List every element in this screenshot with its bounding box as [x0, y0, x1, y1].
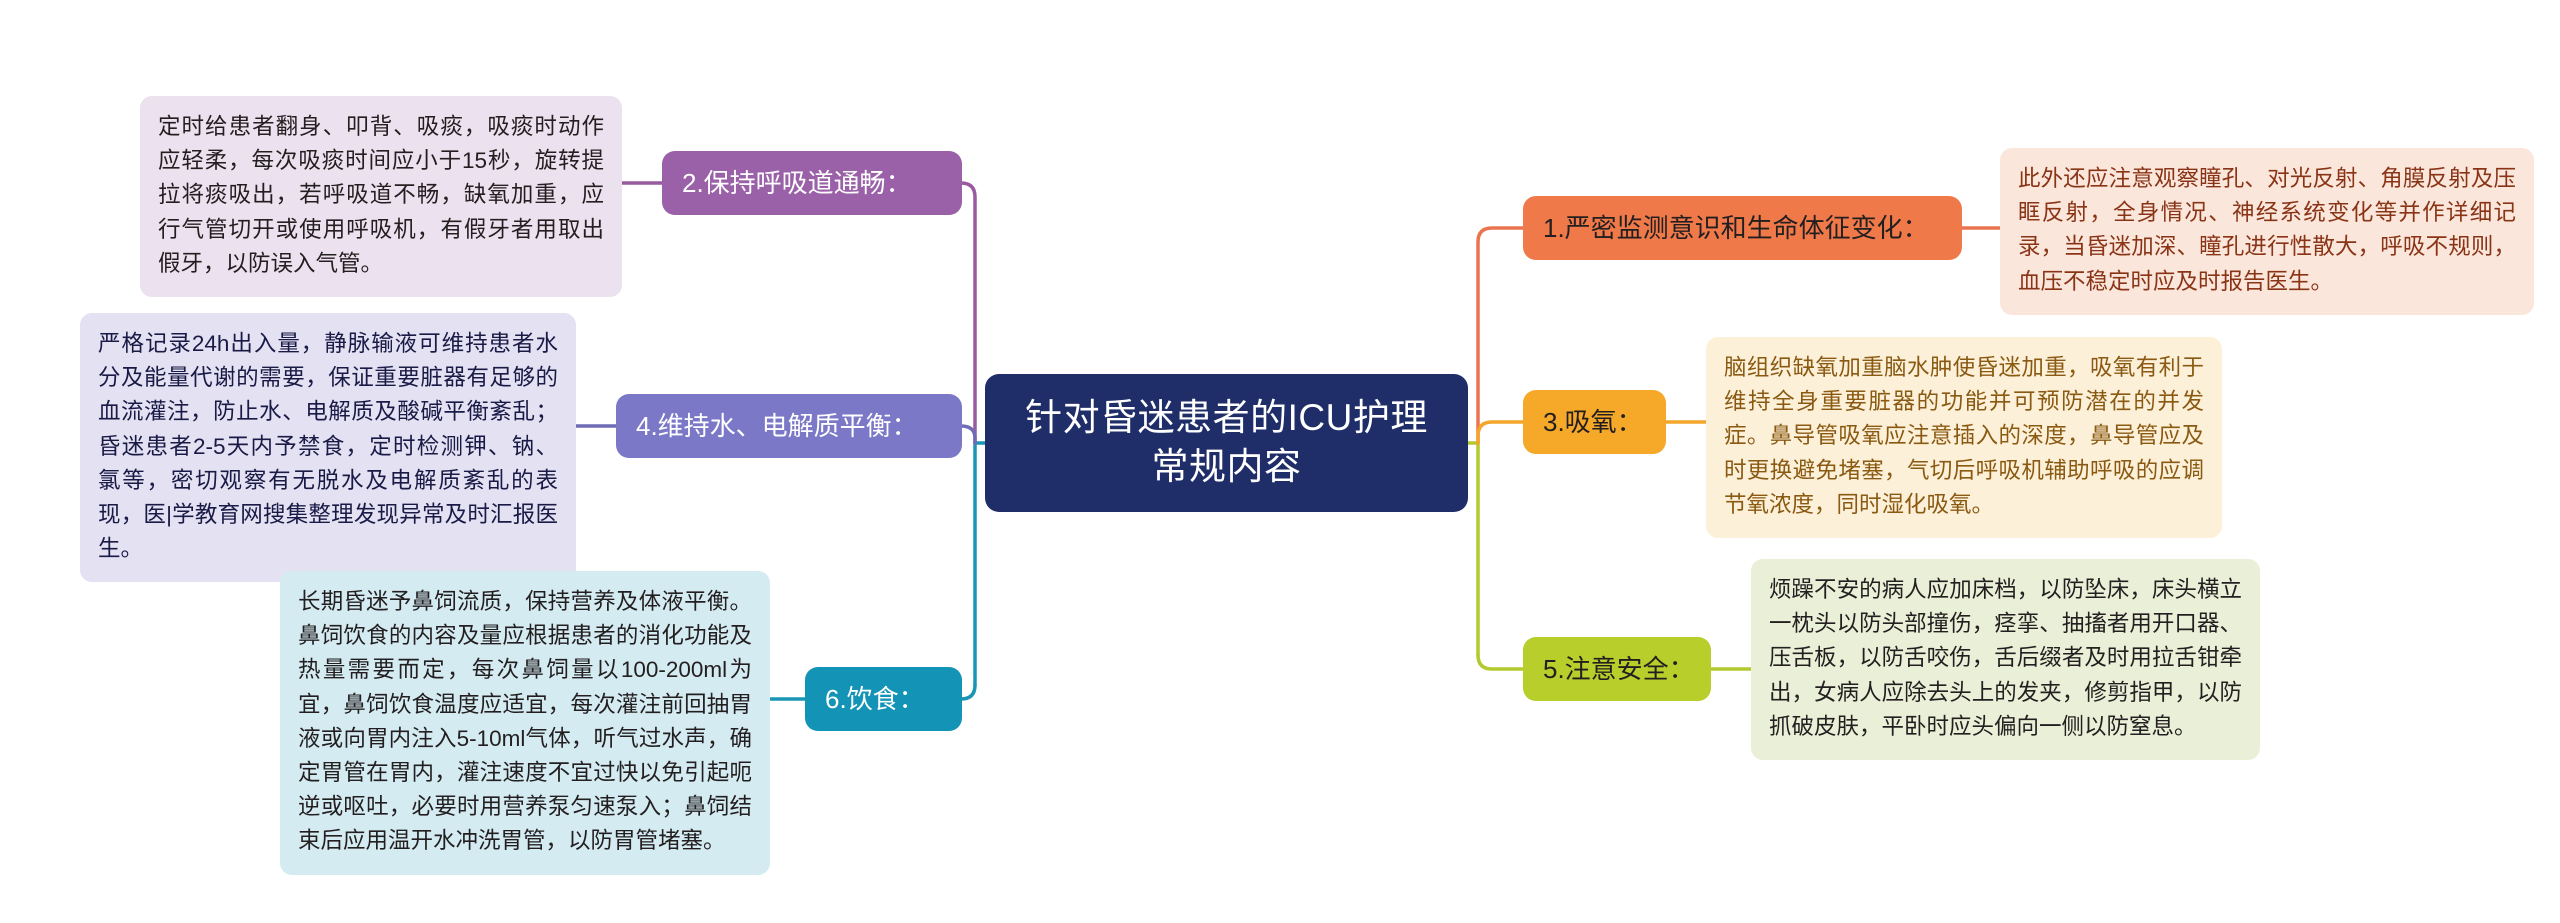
branch-detail-card-5-text: 烦躁不安的病人应加床档，以防坠床，床头横立一枕头以防头部撞伤，痉挛、抽搐者用开口… [1769, 577, 2242, 739]
wire-branch-3 [1478, 422, 1523, 443]
branch-node-6[interactable]: 6.饮食： [805, 667, 962, 731]
branch-detail-card-3[interactable]: 脑组织缺氧加重脑水肿使昏迷加重，吸氧有利于维持全身重要脏器的功能并可预防潜在的并… [1706, 337, 2222, 538]
branch-node-4[interactable]: 4.维持水、电解质平衡： [616, 394, 962, 458]
branch-node-3[interactable]: 3.吸氧： [1523, 390, 1666, 454]
mindmap-canvas: 针对昏迷患者的ICU护理 常规内容 1.严密监测意识和生命体征变化： 此外还应注… [0, 0, 2560, 923]
branch-detail-card-2-text: 定时给患者翻身、叩背、吸痰，吸痰时动作应轻柔，每次吸痰时间应小于15秒，旋转提拉… [158, 114, 604, 276]
branch-node-4-label: 4.维持水、电解质平衡： [636, 410, 918, 443]
branch-node-5-label: 5.注意安全： [1543, 653, 1695, 686]
branch-node-5[interactable]: 5.注意安全： [1523, 637, 1711, 701]
branch-detail-card-2[interactable]: 定时给患者翻身、叩背、吸痰，吸痰时动作应轻柔，每次吸痰时间应小于15秒，旋转提拉… [140, 96, 622, 297]
branch-node-6-label: 6.饮食： [825, 683, 925, 716]
branch-detail-card-6-text: 长期昏迷予鼻饲流质，保持营养及体液平衡。鼻饲饮食的内容及量应根据患者的消化功能及… [298, 589, 752, 853]
branch-node-2-label: 2.保持呼吸道通畅： [682, 167, 912, 200]
branch-detail-card-1-text: 此外还应注意观察瞳孔、对光反射、角膜反射及压眶反射，全身情况、神经系统变化等并作… [2018, 166, 2516, 294]
branch-node-3-label: 3.吸氧： [1543, 406, 1643, 439]
branch-detail-card-1[interactable]: 此外还应注意观察瞳孔、对光反射、角膜反射及压眶反射，全身情况、神经系统变化等并作… [2000, 148, 2534, 315]
branch-detail-card-3-text: 脑组织缺氧加重脑水肿使昏迷加重，吸氧有利于维持全身重要脏器的功能并可预防潜在的并… [1724, 355, 2204, 517]
branch-detail-card-6[interactable]: 长期昏迷予鼻饲流质，保持营养及体液平衡。鼻饲饮食的内容及量应根据患者的消化功能及… [280, 571, 770, 875]
central-topic-node[interactable]: 针对昏迷患者的ICU护理 常规内容 [985, 374, 1468, 512]
wire-branch-5 [1478, 655, 1523, 669]
branch-node-1-label: 1.严密监测意识和生命体征变化： [1543, 212, 1929, 245]
branch-detail-card-5[interactable]: 烦躁不安的病人应加床档，以防坠床，床头横立一枕头以防头部撞伤，痉挛、抽搐者用开口… [1751, 559, 2260, 760]
branch-detail-card-4-text: 严格记录24h出入量，静脉输液可维持患者水分及能量代谢的需要，保证重要脏器有足够… [98, 331, 558, 561]
wire-branch-1 [1478, 228, 1523, 443]
branch-detail-card-4[interactable]: 严格记录24h出入量，静脉输液可维持患者水分及能量代谢的需要，保证重要脏器有足够… [80, 313, 576, 582]
branch-node-2[interactable]: 2.保持呼吸道通畅： [662, 151, 962, 215]
central-topic-label: 针对昏迷患者的ICU护理 常规内容 [1025, 394, 1428, 492]
branch-node-1[interactable]: 1.严密监测意识和生命体征变化： [1523, 196, 1962, 260]
